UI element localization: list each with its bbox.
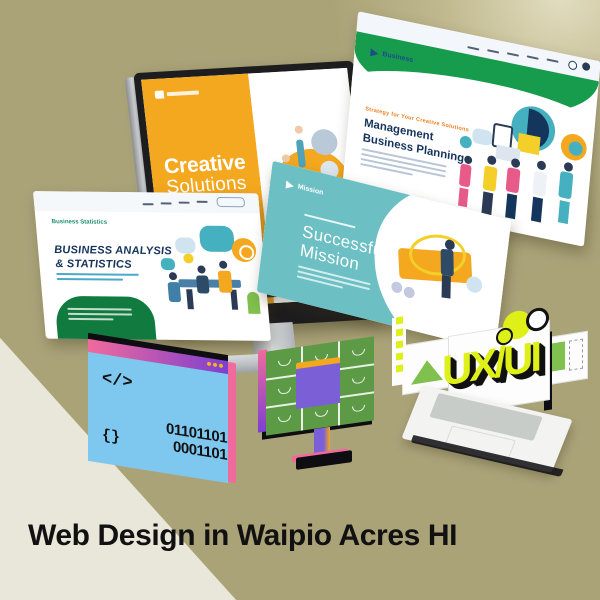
arrow-icon: [370, 48, 379, 58]
wireframe-dashed-block: [569, 339, 583, 371]
tool-sidebar-panel: [392, 316, 406, 386]
filing-cabinet-unit: [258, 344, 376, 474]
card-analysis-search-pill: [216, 197, 245, 207]
card-business-analysis-statistics: Business Statistics BUSINESS ANALYSIS & …: [33, 191, 271, 341]
card-analysis-green-blob: [54, 296, 158, 341]
uxui-laptop-scene: UX/UI: [392, 312, 592, 480]
illustration-canvas: Creative Solutions Digital Design Agency…: [0, 0, 600, 600]
code-brace-icon: {}: [102, 427, 120, 447]
cabinet-open-drawer: [296, 363, 340, 409]
card-analysis-sub-lines: [56, 273, 139, 284]
card-analysis-browser-bar: [33, 191, 260, 213]
card-green-search-icon: [568, 60, 578, 71]
arrow-icon: [285, 181, 294, 191]
code-browser-window: </> {} 01101101 0001101: [88, 352, 233, 472]
card-analysis-logo-text: Business Statistics: [52, 219, 108, 227]
card-green-avatar: [582, 62, 591, 72]
card-analysis-illustration: [146, 218, 269, 337]
mountain-icon: [411, 358, 443, 385]
cabinet-base: [296, 450, 352, 470]
page-title: Web Design in Waipio Acres HI: [28, 519, 457, 553]
card-analysis-title-line2: & STATISTICS: [55, 258, 132, 271]
